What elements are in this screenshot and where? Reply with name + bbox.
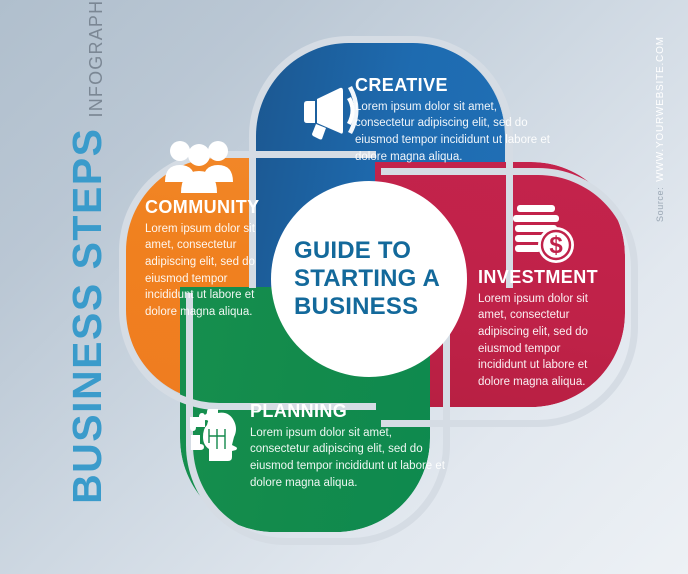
section-community: COMMUNITY Lorem ipsum dolor sit amet, co…	[145, 198, 267, 321]
people-group-icon	[165, 138, 233, 193]
section-creative-title: CREATIVE	[355, 76, 555, 96]
section-community-title: COMMUNITY	[145, 198, 267, 218]
source-label: Source:	[655, 187, 665, 222]
section-planning-title: PLANNING	[250, 402, 450, 422]
coins-dollar-icon: $	[505, 203, 577, 265]
section-planning: PLANNING Lorem ipsum dolor sit amet, con…	[250, 402, 450, 491]
source-url: WWW.YOURWEBSITE.COM	[655, 36, 666, 182]
head-puzzle-icon	[185, 405, 247, 467]
side-title-group: BUSINESS STEPS INFOGRAPHICS	[0, 35, 108, 435]
section-creative-body: Lorem ipsum dolor sit amet, consectetur …	[355, 99, 555, 166]
section-investment-title: INVESTMENT	[478, 268, 606, 288]
section-investment-body: Lorem ipsum dolor sit amet, consectetur …	[478, 291, 606, 391]
center-circle: GUIDE TO STARTING A BUSINESS	[271, 181, 467, 377]
center-title: GUIDE TO STARTING A BUSINESS	[294, 237, 444, 320]
section-investment: INVESTMENT Lorem ipsum dolor sit amet, c…	[478, 268, 606, 391]
infographic-canvas: BUSINESS STEPS INFOGRAPHICS Source: WWW.…	[0, 0, 688, 574]
section-community-body: Lorem ipsum dolor sit amet, consectetur …	[145, 221, 267, 321]
section-creative: CREATIVE Lorem ipsum dolor sit amet, con…	[355, 76, 555, 165]
svg-text:$: $	[549, 232, 563, 259]
section-planning-body: Lorem ipsum dolor sit amet, consectetur …	[250, 425, 450, 492]
page-subtitle: INFOGRAPHICS	[87, 0, 108, 117]
page-title: BUSINESS STEPS	[67, 127, 108, 503]
source-credit: Source: WWW.YOURWEBSITE.COM	[648, 42, 672, 222]
megaphone-icon	[296, 82, 362, 140]
